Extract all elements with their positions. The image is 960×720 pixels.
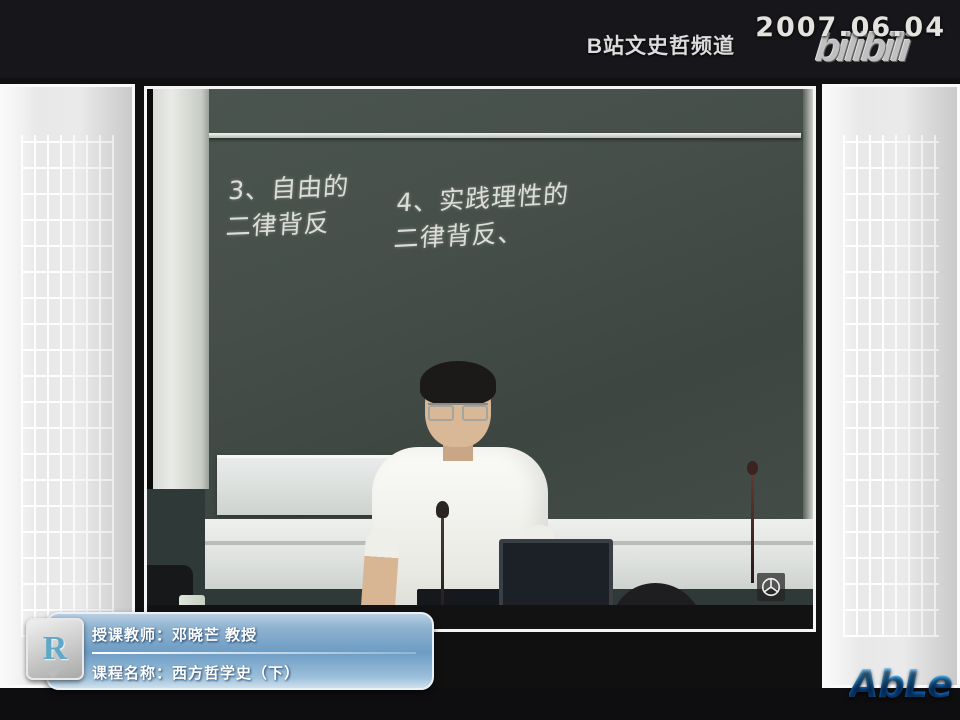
lecturer-glasses-icon: [428, 403, 488, 415]
chalk-text-item-4: 4、实践理性的 二律背反、: [393, 176, 571, 258]
room-pillar: [147, 89, 209, 489]
lecturer-hair: [420, 361, 496, 405]
chalk-text-item-3: 3、自由的 二律背反: [225, 169, 351, 246]
microphone-head: [436, 501, 449, 518]
video-frame[interactable]: 3、自由的 二律背反 4、实践理性的 二律背反、: [144, 86, 816, 632]
video-player-screen: B站文史哲频道 bilibili 2007.06.04 3、自由的 二律背反 4…: [0, 0, 960, 720]
circle-trefoil-watermark-icon: [757, 573, 785, 601]
course-provider-logo: R: [26, 618, 84, 680]
monitor-primary: [499, 539, 613, 615]
microphone-head-right: [747, 461, 758, 475]
teacher-line: 授课教师：邓晓芒 教授: [92, 615, 422, 653]
bottom-letterbox: [0, 688, 960, 720]
course-info-caption: 授课教师：邓晓芒 教授 课程名称：西方哲学史（下）: [46, 612, 434, 690]
blackboard-right-edge: [803, 89, 813, 519]
able-brand-logo: AbLe: [849, 662, 952, 706]
top-banner: B站文史哲频道 bilibili 2007.06.04: [0, 0, 960, 78]
wall-sheen-right: [825, 87, 957, 685]
blackboard-rail: [205, 133, 801, 138]
wall-panel-left: [0, 84, 135, 688]
course-line: 课程名称：西方哲学史（下）: [92, 653, 422, 691]
wall-sheen-left: [3, 87, 132, 685]
wall-panel-right: [822, 84, 960, 688]
video-scene: 3、自由的 二律背反 4、实践理性的 二律背反、: [147, 89, 813, 629]
microphone-stand-right: [751, 467, 754, 583]
channel-title: B站文史哲频道: [587, 30, 735, 60]
recording-date: 2007.06.04: [755, 12, 946, 43]
